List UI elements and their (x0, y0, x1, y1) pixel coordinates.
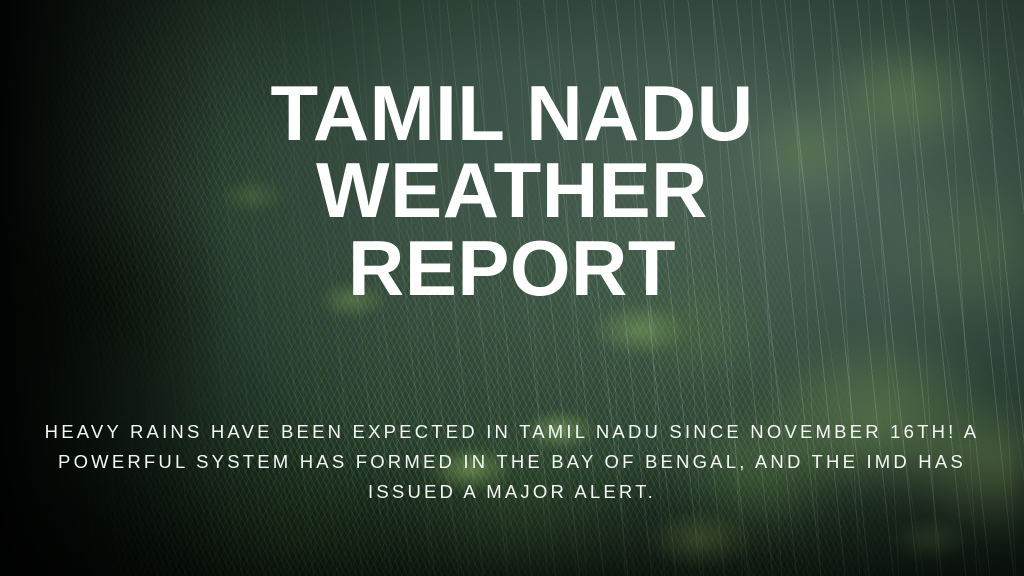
poster-content: TAMIL NADU WEATHER REPORT HEAVY RAINS HA… (0, 0, 1024, 576)
subtitle-line-3: ISSUED A MAJOR ALERT. (0, 477, 1024, 507)
weather-report-poster: TAMIL NADU WEATHER REPORT HEAVY RAINS HA… (0, 0, 1024, 576)
subtitle-line-1: HEAVY RAINS HAVE BEEN EXPECTED IN TAMIL … (0, 417, 1024, 447)
headline-line-2: WEATHER (0, 152, 1024, 229)
subtitle-description: HEAVY RAINS HAVE BEEN EXPECTED IN TAMIL … (0, 417, 1024, 507)
headline-line-3: REPORT (0, 230, 1024, 307)
headline-line-1: TAMIL NADU (0, 75, 1024, 152)
page-title: TAMIL NADU WEATHER REPORT (0, 75, 1024, 307)
subtitle-line-2: POWERFUL SYSTEM HAS FORMED IN THE BAY OF… (0, 447, 1024, 477)
